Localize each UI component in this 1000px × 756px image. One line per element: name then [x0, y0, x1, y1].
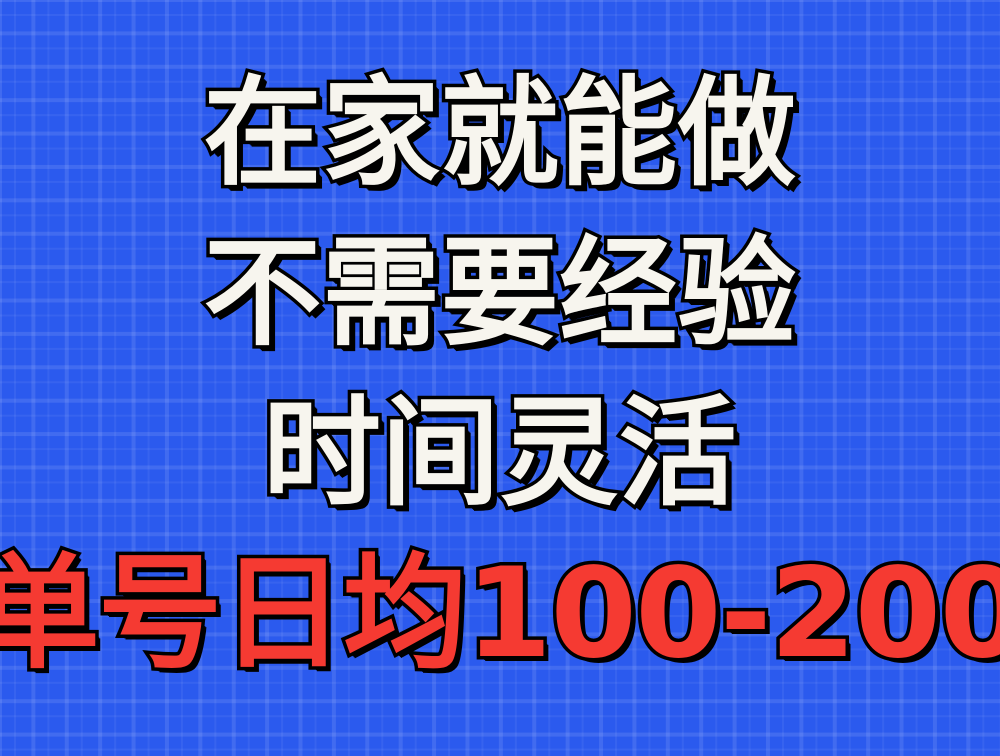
headline-line-1: 在家就能做	[204, 74, 797, 192]
headline-line-2: 不需要经验	[204, 234, 797, 352]
headline-stack: 在家就能做 不需要经验 时间灵活 单号日均100-200	[0, 0, 1000, 756]
promo-poster: 在家就能做 不需要经验 时间灵活 单号日均100-200	[0, 0, 1000, 756]
headline-line-4-earnings: 单号日均100-200	[0, 552, 1000, 676]
headline-line-3: 时间灵活	[263, 394, 737, 512]
